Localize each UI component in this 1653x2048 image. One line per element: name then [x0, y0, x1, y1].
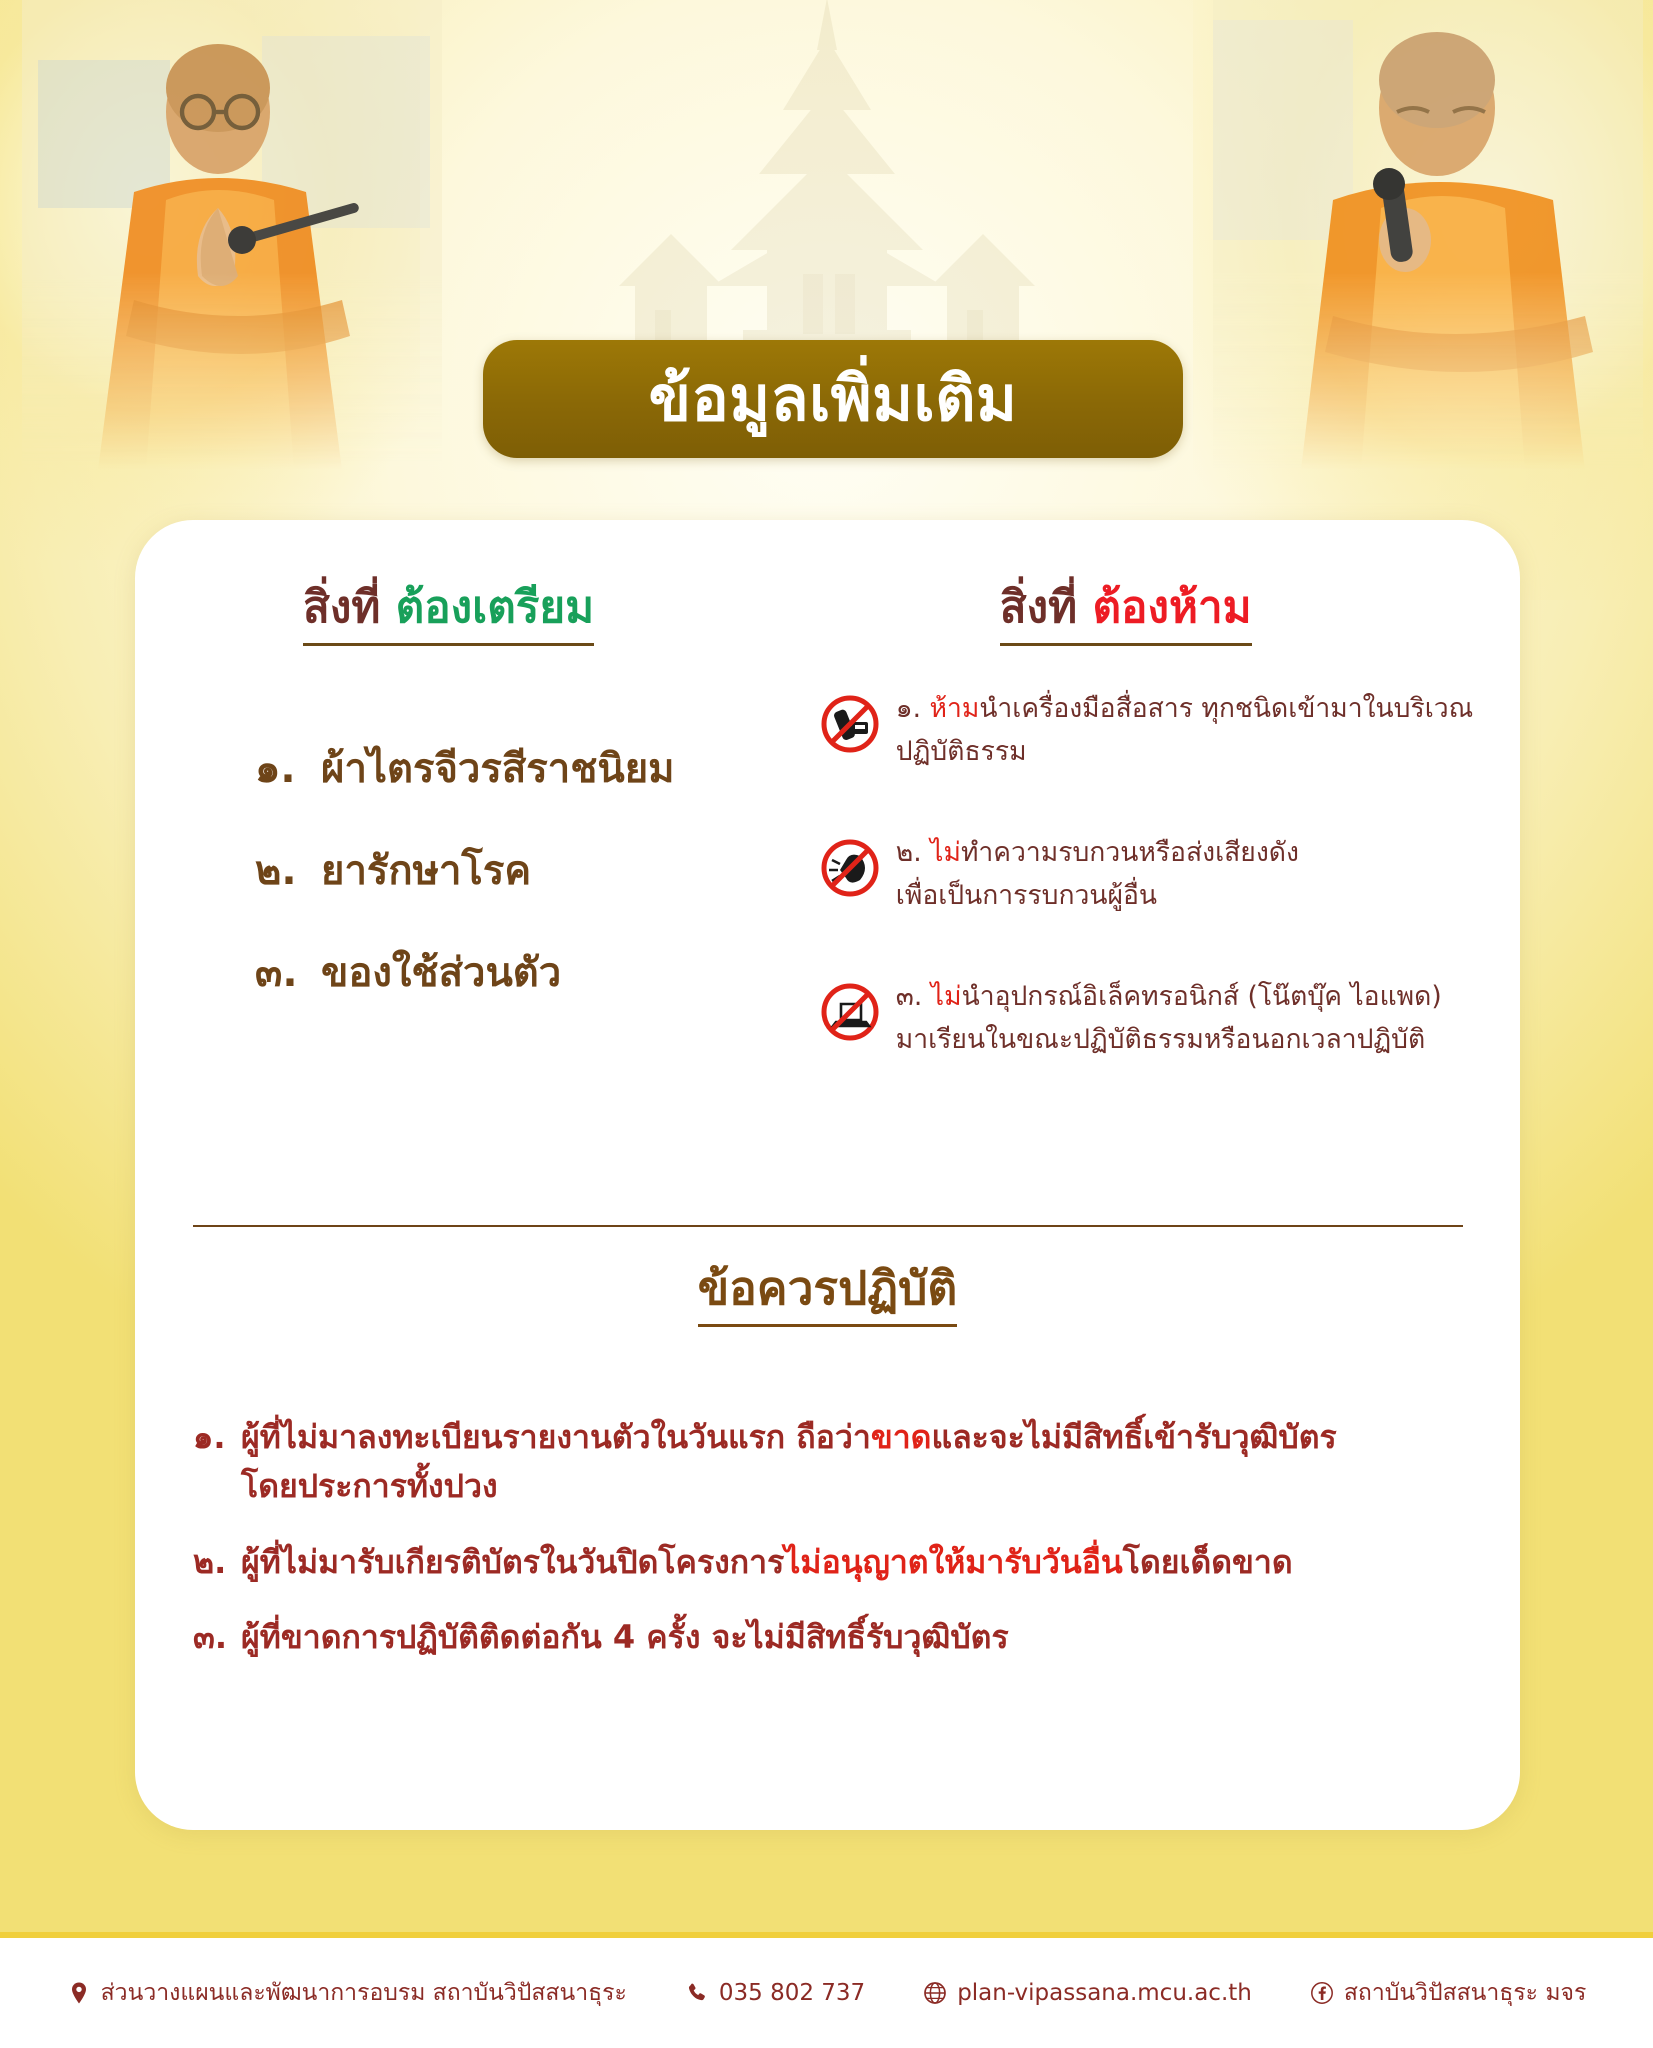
monk-photo-right — [1213, 0, 1643, 470]
forbidden-heading: สิ่งที่ ต้องห้าม — [1000, 580, 1252, 646]
globe-icon — [923, 1981, 947, 2005]
practice-heading-wrap: ข้อควรปฏิบัติ — [135, 1260, 1520, 1327]
practice-item-part1: ผู้ที่ไม่มารับเกียรติบัตรในวันปิดโครงการ — [241, 1543, 784, 1581]
prepare-item-label: ของใช้ส่วนตัว — [321, 946, 561, 1000]
forbidden-heading-wrap: สิ่งที่ ต้องห้าม — [1000, 580, 1480, 646]
forbidden-item-text: ๓. ไม่นำอุปกรณ์อิเล็คทรอนิกส์ (โน๊ตบุ๊ค … — [896, 976, 1442, 1062]
practice-item-part2: โดยเด็ดขาด — [1123, 1543, 1293, 1581]
practice-heading: ข้อควรปฏิบัติ — [698, 1260, 958, 1327]
list-item: ๓. ไม่นำอุปกรณ์อิเล็คทรอนิกส์ (โน๊ตบุ๊ค … — [820, 976, 1480, 1062]
practice-item-text: ผู้ที่ไม่มารับเกียรติบัตรในวันปิดโครงการ… — [241, 1538, 1450, 1588]
no-laptop-icon — [820, 982, 880, 1042]
two-column-area: สิ่งที่ ต้องเตรียม ๑. ผ้าไตรจีวรสีราชนิย… — [135, 520, 1520, 1120]
footer-website[interactable]: plan-vipassana.mcu.ac.th — [923, 1981, 1252, 2005]
prepare-heading-wrap: สิ่งที่ ต้องเตรียม — [303, 580, 800, 646]
forbidden-item-rest: นำเครื่องมือสื่อสาร ทุกชนิดเข้ามาในบริเว… — [979, 693, 1473, 724]
page-title-banner: ข้อมูลเพิ่มเติม — [483, 340, 1183, 458]
poster-root: ข้อมูลเพิ่มเติม สิ่งที่ ต้องเตรียม ๑. ผ้… — [0, 0, 1653, 2048]
forbidden-item-line2: ปฏิบัติธรรม — [896, 736, 1027, 767]
monk-photo-left — [22, 0, 442, 470]
footer-phone-text: 035 802 737 — [719, 1982, 865, 2005]
list-item: ๓. ผู้ที่ขาดการปฏิบัติติดต่อกัน 4 ครั้ง … — [193, 1613, 1450, 1663]
forbidden-item-highlight: ไม่ — [930, 837, 961, 868]
footer-address: ส่วนวางแผนและพัฒนาการอบรม สถาบันวิปัสสนา… — [67, 1981, 627, 2005]
footer-website-text: plan-vipassana.mcu.ac.th — [957, 1982, 1252, 2005]
practice-item-part1: ผู้ที่ไม่มาลงทะเบียนรายงานตัวในวันแรก ถื… — [241, 1418, 871, 1456]
forbidden-item-highlight: ไม่ — [931, 981, 962, 1012]
practice-item-highlight: ไม่อนุญาตให้มารับวันอื่น — [784, 1543, 1123, 1581]
footer-facebook[interactable]: สถาบันวิปัสสนาธุระ มจร — [1310, 1981, 1586, 2005]
forbidden-item-number: ๓. — [896, 981, 923, 1012]
list-item: ๒. ผู้ที่ไม่มารับเกียรติบัตรในวันปิดโครง… — [193, 1538, 1450, 1588]
prepare-heading-accent: ต้องเตรียม — [396, 582, 595, 633]
practice-item-line2: โดยประการทั้งปวง — [241, 1467, 498, 1505]
prepare-column: สิ่งที่ ต้องเตรียม ๑. ผ้าไตรจีวรสีราชนิย… — [135, 520, 800, 1120]
forbidden-item-number: ๑. — [896, 693, 921, 724]
list-item: ๑. ผ้าไตรจีวรสีราชนิยม — [255, 742, 800, 796]
practice-list: ๑. ผู้ที่ไม่มาลงทะเบียนรายงานตัวในวันแรก… — [193, 1413, 1450, 1663]
content-card: สิ่งที่ ต้องเตรียม ๑. ผ้าไตรจีวรสีราชนิย… — [135, 520, 1520, 1830]
footer-facebook-text: สถาบันวิปัสสนาธุระ มจร — [1344, 1982, 1586, 2005]
list-item: ๒. ไม่ทำความรบกวนหรือส่งเสียงดัง เพื่อเป… — [820, 832, 1480, 918]
forbidden-item-rest: นำอุปกรณ์อิเล็คทรอนิกส์ (โน๊ตบุ๊ค ไอแพด) — [962, 981, 1442, 1012]
forbidden-column: สิ่งที่ ต้องห้าม — [800, 520, 1520, 1120]
facebook-icon — [1310, 1981, 1334, 2005]
footer: ส่วนวางแผนและพัฒนาการอบรม สถาบันวิปัสสนา… — [0, 1938, 1653, 2048]
footer-address-text: ส่วนวางแผนและพัฒนาการอบรม สถาบันวิปัสสนา… — [101, 1982, 627, 2005]
practice-item-number: ๓. — [193, 1613, 241, 1663]
list-item: ๒. ยารักษาโรค — [255, 844, 800, 898]
practice-item-text: ผู้ที่ไม่มาลงทะเบียนรายงานตัวในวันแรก ถื… — [241, 1413, 1450, 1512]
forbidden-item-number: ๒. — [896, 837, 922, 868]
practice-item-highlight: ขาด — [871, 1418, 932, 1456]
practice-item-part2: และจะไม่มีสิทธิ์เข้ารับวุฒิบัตร — [931, 1418, 1336, 1456]
phone-icon — [685, 1981, 709, 2005]
no-mobile-phone-icon — [820, 694, 880, 754]
section-divider — [193, 1225, 1463, 1227]
prepare-item-number: ๓. — [255, 946, 321, 1000]
prepare-heading: สิ่งที่ ต้องเตรียม — [303, 580, 594, 646]
forbidden-item-line2: เพื่อเป็นการรบกวนผู้อื่น — [896, 880, 1157, 911]
practice-section: ข้อควรปฏิบัติ ๑. ผู้ที่ไม่มาลงทะเบียนราย… — [135, 1260, 1520, 1689]
list-item: ๑. ผู้ที่ไม่มาลงทะเบียนรายงานตัวในวันแรก… — [193, 1413, 1450, 1512]
no-loud-noise-icon — [820, 838, 880, 898]
prepare-item-label: ยารักษาโรค — [321, 844, 531, 898]
forbidden-heading-prefix: สิ่งที่ — [1000, 582, 1093, 633]
practice-item-number: ๒. — [193, 1538, 241, 1588]
forbidden-list: ๑. ห้ามนำเครื่องมือสื่อสาร ทุกชนิดเข้ามา… — [820, 688, 1480, 1062]
forbidden-heading-accent: ต้องห้าม — [1092, 582, 1251, 633]
forbidden-item-rest: ทำความรบกวนหรือส่งเสียงดัง — [961, 837, 1299, 868]
footer-phone[interactable]: 035 802 737 — [685, 1981, 865, 2005]
location-pin-icon — [67, 1981, 91, 2005]
prepare-list: ๑. ผ้าไตรจีวรสีราชนิยม ๒. ยารักษาโรค ๓. … — [255, 742, 800, 1000]
forbidden-item-text: ๑. ห้ามนำเครื่องมือสื่อสาร ทุกชนิดเข้ามา… — [896, 688, 1473, 774]
prepare-heading-prefix: สิ่งที่ — [303, 582, 396, 633]
practice-item-text: ผู้ที่ขาดการปฏิบัติติดต่อกัน 4 ครั้ง จะไ… — [241, 1613, 1450, 1663]
list-item: ๓. ของใช้ส่วนตัว — [255, 946, 800, 1000]
practice-item-number: ๑. — [193, 1413, 241, 1463]
page-title: ข้อมูลเพิ่มเติม — [649, 368, 1018, 430]
list-item: ๑. ห้ามนำเครื่องมือสื่อสาร ทุกชนิดเข้ามา… — [820, 688, 1480, 774]
forbidden-item-line2: มาเรียนในขณะปฏิบัติธรรมหรือนอกเวลาปฏิบัต… — [896, 1024, 1425, 1055]
prepare-item-number: ๑. — [255, 742, 321, 796]
prepare-item-label: ผ้าไตรจีวรสีราชนิยม — [321, 742, 675, 796]
prepare-item-number: ๒. — [255, 844, 321, 898]
practice-item-part1: ผู้ที่ขาดการปฏิบัติติดต่อกัน 4 ครั้ง จะไ… — [241, 1618, 1009, 1656]
forbidden-item-text: ๒. ไม่ทำความรบกวนหรือส่งเสียงดัง เพื่อเป… — [896, 832, 1299, 918]
forbidden-item-highlight: ห้าม — [929, 693, 979, 724]
